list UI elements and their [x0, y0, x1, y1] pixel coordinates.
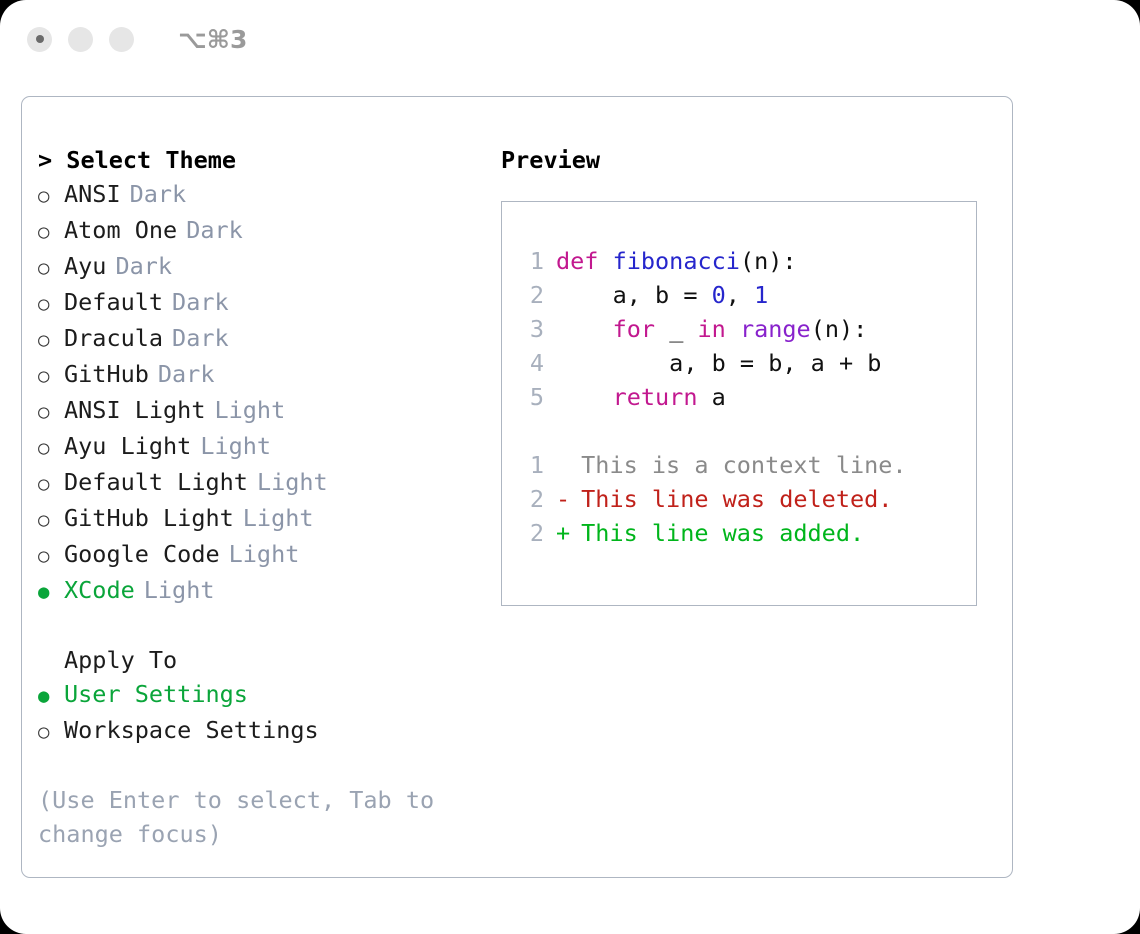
apply-to-label: User Settings [64, 677, 248, 711]
theme-option-dracula-dark[interactable]: ○ Dracula Dark [38, 321, 478, 357]
keyboard-shortcut-label: ⌥⌘3 [178, 25, 247, 54]
diff-marker [556, 448, 570, 482]
radio-icon: ○ [38, 431, 64, 465]
theme-variant-tag: Light [214, 393, 285, 427]
code-content: a, b = 0, 1 [556, 278, 768, 312]
theme-label: Dracula [64, 321, 163, 355]
theme-option-google-code[interactable]: ○ Google Code Light [38, 537, 478, 573]
radio-icon: ○ [38, 503, 64, 537]
token-plain [726, 315, 740, 343]
code-content: for _ in range(n): [556, 312, 867, 346]
theme-variant-tag: Dark [130, 177, 187, 211]
token-number: 1 [754, 281, 768, 309]
apply-to-option-user-settings[interactable]: ● User Settings [38, 677, 478, 713]
theme-variant-tag: Light [243, 501, 314, 535]
theme-label: Default Light [64, 465, 248, 499]
line-number: 5 [516, 380, 544, 414]
theme-label: Google Code [64, 537, 220, 571]
radio-icon: ○ [38, 359, 64, 393]
token-builtin: range [740, 315, 811, 343]
theme-option-xcode[interactable]: ● XCode Light [38, 573, 478, 609]
window-controls [27, 27, 134, 52]
radio-icon: ○ [38, 323, 64, 357]
apply-to-list: ● User Settings ○ Workspace Settings [38, 677, 478, 749]
code-line: 5 return a [516, 380, 976, 414]
line-number: 2 [516, 482, 544, 516]
token-keyword: for [613, 315, 655, 343]
theme-list: ○ ANSI Dark ○ Atom One Dark ○ Ayu Dark [38, 177, 478, 609]
list-spacer [38, 609, 478, 643]
apply-to-header: Apply To [38, 643, 478, 677]
diff-text: This line was added. [581, 516, 864, 550]
token-plain: a [697, 383, 725, 411]
theme-variant-tag: Light [200, 429, 271, 463]
diff-line-addition: 2 + This line was added. [516, 516, 976, 550]
code-content: return a [556, 380, 726, 414]
radio-selected-icon: ● [38, 679, 64, 713]
radio-icon: ○ [38, 539, 64, 573]
code-line: 2 a, b = 0, 1 [516, 278, 976, 312]
theme-option-default-dark[interactable]: ○ Default Dark [38, 285, 478, 321]
theme-option-ansi-light[interactable]: ○ ANSI Light Light [38, 393, 478, 429]
theme-label: GitHub [64, 357, 149, 391]
theme-selector-column: > Select Theme ○ ANSI Dark ○ Atom One Da… [38, 143, 478, 851]
title-bar: ⌥⌘3 [0, 0, 1140, 78]
line-number: 1 [516, 448, 544, 482]
theme-label: XCode [64, 573, 135, 607]
theme-label: Default [64, 285, 163, 319]
theme-label: ANSI [64, 177, 121, 211]
code-content: a, b = b, a + b [556, 346, 881, 380]
theme-variant-tag: Light [144, 573, 215, 607]
token-plain: (n): [811, 315, 868, 343]
line-number: 2 [516, 278, 544, 312]
diff-sample: 1 This is a context line. 2 - This line … [516, 448, 976, 550]
diff-marker: - [556, 482, 570, 516]
theme-label: ANSI Light [64, 393, 205, 427]
theme-variant-tag: Light [257, 465, 328, 499]
radio-icon: ○ [38, 395, 64, 429]
preview-column: Preview 1 def fibonacci(n): 2 a, b = 0, … [501, 143, 1001, 606]
theme-label: Ayu Light [64, 429, 191, 463]
app-window: ⌥⌘3 > Select Theme ○ ANSI Dark ○ Atom On… [0, 0, 1140, 934]
token-keyword: in [698, 315, 726, 343]
line-number: 2 [516, 516, 544, 550]
token-plain: _ [655, 315, 697, 343]
theme-variant-tag: Dark [172, 321, 229, 355]
line-number: 3 [516, 312, 544, 346]
theme-variant-tag: Dark [158, 357, 215, 391]
apply-to-label: Workspace Settings [64, 713, 319, 747]
token-number: 0 [712, 281, 726, 309]
diff-text: This line was deleted. [581, 482, 892, 516]
code-diff-separator [516, 414, 976, 448]
radio-icon: ○ [38, 179, 64, 213]
token-plain [556, 383, 613, 411]
theme-option-github-dark[interactable]: ○ GitHub Dark [38, 357, 478, 393]
code-line: 1 def fibonacci(n): [516, 244, 976, 278]
theme-option-ayu-dark[interactable]: ○ Ayu Dark [38, 249, 478, 285]
line-number: 4 [516, 346, 544, 380]
radio-icon: ○ [38, 287, 64, 321]
preview-box: 1 def fibonacci(n): 2 a, b = 0, 1 3 for … [501, 201, 977, 606]
radio-icon: ○ [38, 467, 64, 501]
theme-option-ayu-light[interactable]: ○ Ayu Light Light [38, 429, 478, 465]
apply-to-option-workspace-settings[interactable]: ○ Workspace Settings [38, 713, 478, 749]
theme-option-default-light[interactable]: ○ Default Light Light [38, 465, 478, 501]
token-function: fibonacci [613, 247, 740, 275]
theme-label: Ayu [64, 249, 106, 283]
code-line: 4 a, b = b, a + b [516, 346, 976, 380]
token-plain: a, b = b, a + b [556, 349, 881, 377]
diff-text: This is a context line. [581, 448, 906, 482]
code-content: def fibonacci(n): [556, 244, 797, 278]
token-plain [556, 315, 613, 343]
theme-option-ansi-dark[interactable]: ○ ANSI Dark [38, 177, 478, 213]
token-keyword: return [613, 383, 698, 411]
token-plain: , [726, 281, 754, 309]
select-theme-header: > Select Theme [38, 143, 478, 177]
theme-option-github-light[interactable]: ○ GitHub Light Light [38, 501, 478, 537]
theme-option-atom-one-dark[interactable]: ○ Atom One Dark [38, 213, 478, 249]
radio-selected-icon: ● [38, 575, 64, 609]
radio-icon: ○ [38, 251, 64, 285]
diff-marker: + [556, 516, 570, 550]
line-number: 1 [516, 244, 544, 278]
theme-variant-tag: Dark [172, 285, 229, 319]
theme-label: Atom One [64, 213, 177, 247]
diff-line-deletion: 2 - This line was deleted. [516, 482, 976, 516]
theme-label: GitHub Light [64, 501, 234, 535]
main-panel: > Select Theme ○ ANSI Dark ○ Atom One Da… [21, 96, 1013, 878]
traffic-light-close[interactable] [27, 27, 52, 52]
code-sample: 1 def fibonacci(n): 2 a, b = 0, 1 3 for … [516, 244, 976, 414]
radio-icon: ○ [38, 215, 64, 249]
diff-line-context: 1 This is a context line. [516, 448, 976, 482]
traffic-light-maximize[interactable] [109, 27, 134, 52]
theme-variant-tag: Dark [115, 249, 172, 283]
token-plain: (n): [740, 247, 797, 275]
theme-variant-tag: Light [229, 537, 300, 571]
traffic-light-minimize[interactable] [68, 27, 93, 52]
code-line: 3 for _ in range(n): [516, 312, 976, 346]
traffic-light-dot-icon [36, 35, 44, 43]
token-plain: a, b = [556, 281, 712, 309]
keyboard-hint-text: (Use Enter to select, Tab to change focu… [38, 783, 448, 851]
radio-icon: ○ [38, 715, 64, 749]
preview-header: Preview [501, 143, 1001, 177]
token-keyword: def [556, 247, 613, 275]
theme-variant-tag: Dark [186, 213, 243, 247]
